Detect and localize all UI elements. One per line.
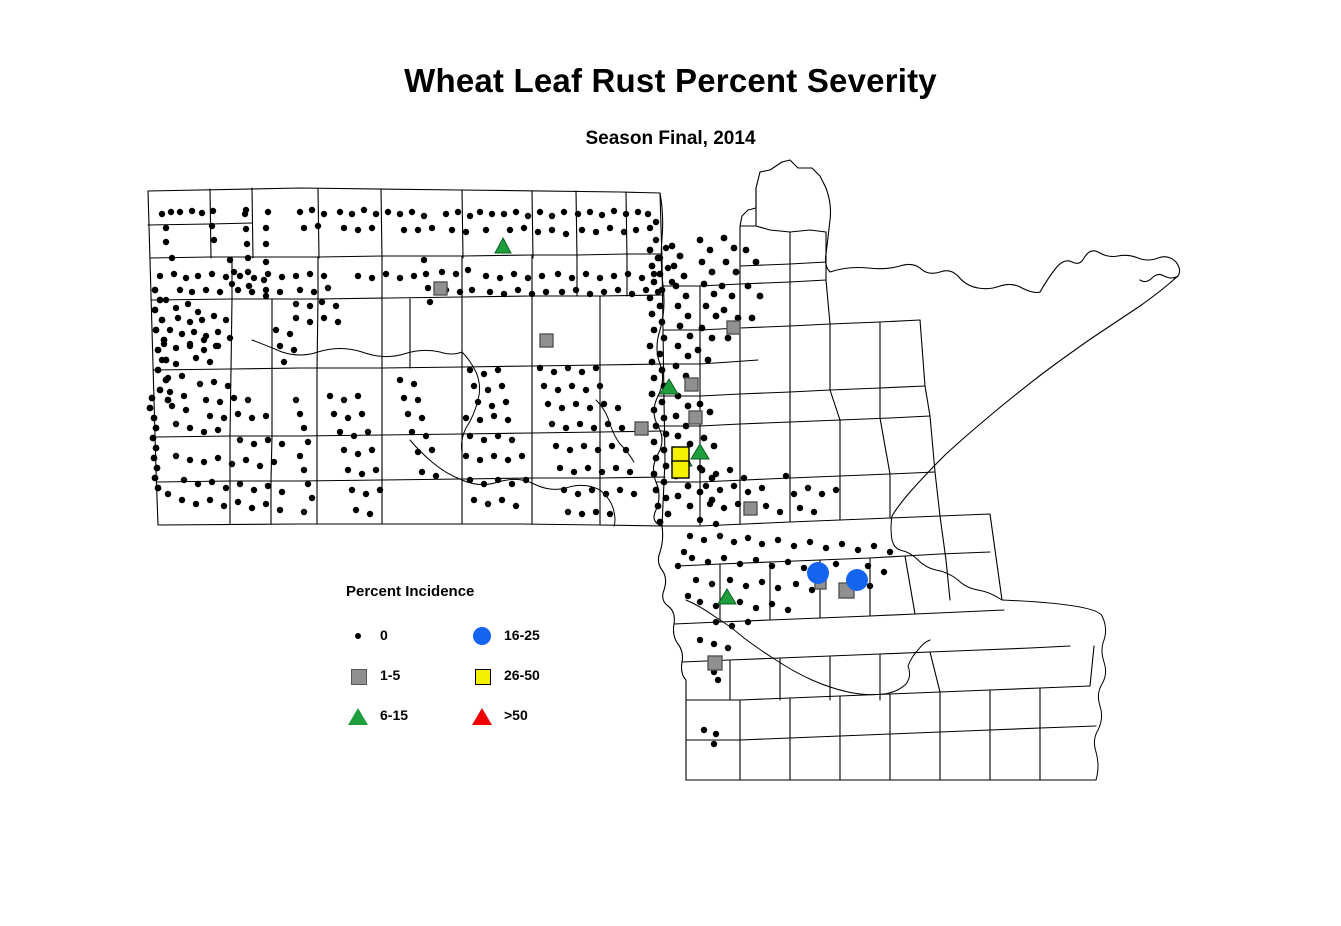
- legend-label-0: 0: [380, 627, 388, 643]
- legend: Percent Incidence 0 1-5 6-15 16-25: [330, 583, 580, 718]
- legend-symbol-zero-dot-icon: [346, 623, 372, 649]
- legend-title: Percent Incidence: [346, 583, 474, 600]
- map-figure: [0, 0, 1341, 926]
- legend-symbol-yellow-square-icon: [470, 663, 496, 689]
- legend-symbol-red-triangle-icon: [470, 703, 496, 729]
- severity-marker-26to50-group: [672, 447, 689, 478]
- legend-symbol-gray-square-icon: [346, 663, 372, 689]
- legend-label-26-50: 26-50: [504, 667, 540, 683]
- legend-symbol-green-triangle-icon: [346, 703, 372, 729]
- legend-label-16-25: 16-25: [504, 627, 540, 643]
- state-county-map: [0, 0, 1341, 926]
- legend-symbol-blue-circle-icon: [470, 623, 496, 649]
- legend-label-1-5: 1-5: [380, 667, 400, 683]
- legend-label-over-50: >50: [504, 707, 528, 723]
- map-canvas: Wheat Leaf Rust Percent Severity Season …: [0, 0, 1341, 926]
- legend-label-6-15: 6-15: [380, 707, 408, 723]
